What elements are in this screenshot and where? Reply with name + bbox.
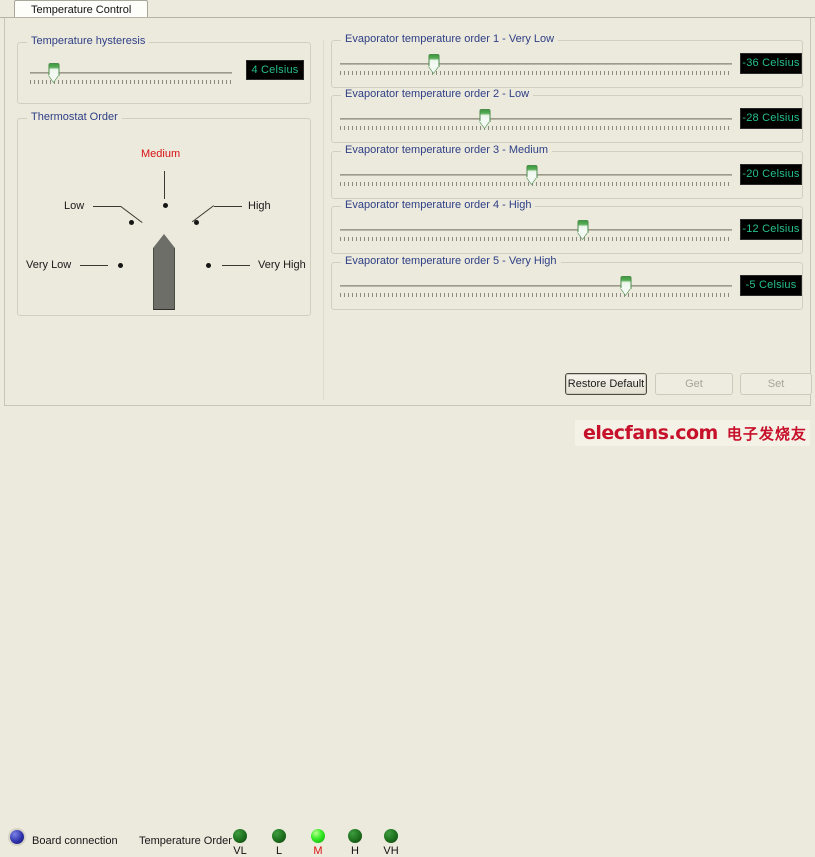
logo-site-cn-text: 电子发烧友 [727, 423, 807, 444]
evaporator-order-5-slider-track[interactable] [340, 285, 732, 287]
evaporator-order-1-slider[interactable] [340, 54, 732, 76]
slider-thumb-tip [429, 66, 439, 73]
temperature-order-led-m [311, 829, 325, 843]
evaporator-order-2-slider-track[interactable] [340, 118, 732, 120]
group-title-evaporator-order-4: Evaporator temperature order 4 - High [341, 200, 535, 211]
group-evaporator-order-3: Evaporator temperature order 3 - Medium-… [331, 151, 803, 199]
hysteresis-slider-thumb[interactable] [49, 63, 60, 83]
set-button-label: Set [768, 378, 785, 390]
application-window: Temperature Control Temperature hysteres… [0, 0, 815, 452]
evaporator-order-2-slider-thumb[interactable] [480, 109, 491, 129]
restore-default-button[interactable]: Restore Default [565, 373, 647, 395]
evaporator-order-3-slider[interactable] [340, 165, 732, 187]
dial-lead-medium [164, 171, 165, 199]
temperature-order-led-h [348, 829, 362, 843]
needle-head [153, 234, 175, 248]
evaporator-order-3-value-text: -20 Celsius [742, 168, 799, 180]
slider-thumb-tip [49, 75, 59, 82]
dial-label-low: Low [64, 200, 84, 212]
evaporator-order-4-slider-ticks [340, 237, 732, 241]
dial-dot-very-low [118, 263, 123, 268]
group-title-evaporator-order-5: Evaporator temperature order 5 - Very Hi… [341, 256, 561, 267]
group-evaporator-order-5: Evaporator temperature order 5 - Very Hi… [331, 262, 803, 310]
temperature-order-led-caption-h: H [340, 845, 370, 857]
slider-thumb-tip [480, 121, 490, 128]
group-title-evaporator-order-2: Evaporator temperature order 2 - Low [341, 89, 533, 100]
evaporator-order-1-slider-track[interactable] [340, 63, 732, 65]
dial-lead-high-h [214, 206, 242, 207]
slider-thumb-tip [527, 177, 537, 184]
evaporator-order-2-value-display: -28 Celsius [740, 108, 802, 129]
temperature-order-led-caption-vh: VH [376, 845, 406, 857]
temperature-order-led-vh [384, 829, 398, 843]
temperature-order-led-caption-vl: VL [225, 845, 255, 857]
dial-dot-medium [163, 203, 168, 208]
needle-shaft [153, 248, 175, 310]
evaporator-order-3-slider-thumb[interactable] [527, 165, 538, 185]
thermostat-dial[interactable]: Medium Low High Very Low Very High [18, 119, 310, 315]
evaporator-order-2-slider[interactable] [340, 109, 732, 131]
evaporator-order-1-slider-thumb[interactable] [429, 54, 440, 74]
evaporator-order-4-value-display: -12 Celsius [740, 219, 802, 240]
restore-default-button-label: Restore Default [568, 378, 644, 390]
dial-label-medium: Medium [141, 148, 180, 160]
board-connection-led [10, 830, 24, 844]
dial-dot-low [129, 220, 134, 225]
hysteresis-slider-ticks [30, 80, 232, 84]
elecfans-logo: elecfans.com 电子发烧友 [575, 420, 810, 446]
tab-page-temperature-control: Temperature hysteresis 4 Celsius Thermos… [4, 18, 811, 406]
group-title-evaporator-order-3: Evaporator temperature order 3 - Medium [341, 145, 552, 156]
dial-dot-high [194, 220, 199, 225]
logo-site-text: elecfans.com [583, 422, 718, 444]
evaporator-order-4-slider[interactable] [340, 220, 732, 242]
group-evaporator-order-4: Evaporator temperature order 4 - High-12… [331, 206, 803, 254]
hysteresis-slider[interactable] [30, 63, 232, 85]
dial-dot-very-high [206, 263, 211, 268]
temperature-order-led-vl [233, 829, 247, 843]
dial-label-very-low: Very Low [26, 259, 71, 271]
thermostat-needle [153, 234, 175, 310]
temperature-order-label: Temperature Order [139, 835, 232, 847]
panel-divider [323, 40, 324, 400]
group-thermostat-order: Thermostat Order Medium Low High Very Lo… [17, 118, 311, 316]
evaporator-order-2-value-text: -28 Celsius [742, 112, 799, 124]
group-title-temperature-hysteresis: Temperature hysteresis [27, 36, 149, 47]
temperature-order-led-caption-l: L [264, 845, 294, 857]
hysteresis-value-text: 4 Celsius [251, 64, 298, 76]
group-evaporator-order-1: Evaporator temperature order 1 - Very Lo… [331, 40, 803, 88]
tab-strip: Temperature Control [0, 0, 815, 18]
slider-thumb-tip [621, 288, 631, 295]
hysteresis-value-display: 4 Celsius [246, 60, 304, 80]
evaporator-order-5-slider-thumb[interactable] [621, 276, 632, 296]
dial-label-very-high: Very High [258, 259, 306, 271]
evaporator-order-4-slider-thumb[interactable] [578, 220, 589, 240]
temperature-order-led-l [272, 829, 286, 843]
dial-label-high: High [248, 200, 271, 212]
hysteresis-slider-track[interactable] [30, 72, 232, 74]
slider-thumb-tip [578, 232, 588, 239]
evaporator-order-1-slider-ticks [340, 71, 732, 75]
temperature-order-led-caption-m: M [303, 845, 333, 857]
evaporator-order-2-slider-ticks [340, 126, 732, 130]
evaporator-order-3-value-display: -20 Celsius [740, 164, 802, 185]
dial-lead-low-h [93, 206, 121, 207]
get-button-label: Get [685, 378, 703, 390]
dial-lead-very-low [80, 265, 108, 266]
evaporator-order-1-value-display: -36 Celsius [740, 53, 802, 74]
tab-label: Temperature Control [31, 4, 131, 16]
tab-temperature-control[interactable]: Temperature Control [14, 0, 148, 18]
dial-lead-very-high [222, 265, 250, 266]
group-evaporator-order-2: Evaporator temperature order 2 - Low-28 … [331, 95, 803, 143]
evaporator-order-5-slider-ticks [340, 293, 732, 297]
evaporator-order-5-slider[interactable] [340, 276, 732, 298]
set-button[interactable]: Set [740, 373, 812, 395]
group-title-evaporator-order-1: Evaporator temperature order 1 - Very Lo… [341, 34, 558, 45]
evaporator-order-1-value-text: -36 Celsius [742, 57, 799, 69]
evaporator-order-5-value-text: -5 Celsius [746, 279, 797, 291]
group-temperature-hysteresis: Temperature hysteresis 4 Celsius [17, 42, 311, 104]
evaporator-order-4-value-text: -12 Celsius [742, 223, 799, 235]
get-button[interactable]: Get [655, 373, 733, 395]
evaporator-order-4-slider-track[interactable] [340, 229, 732, 231]
board-connection-label: Board connection [32, 835, 118, 847]
evaporator-order-5-value-display: -5 Celsius [740, 275, 802, 296]
